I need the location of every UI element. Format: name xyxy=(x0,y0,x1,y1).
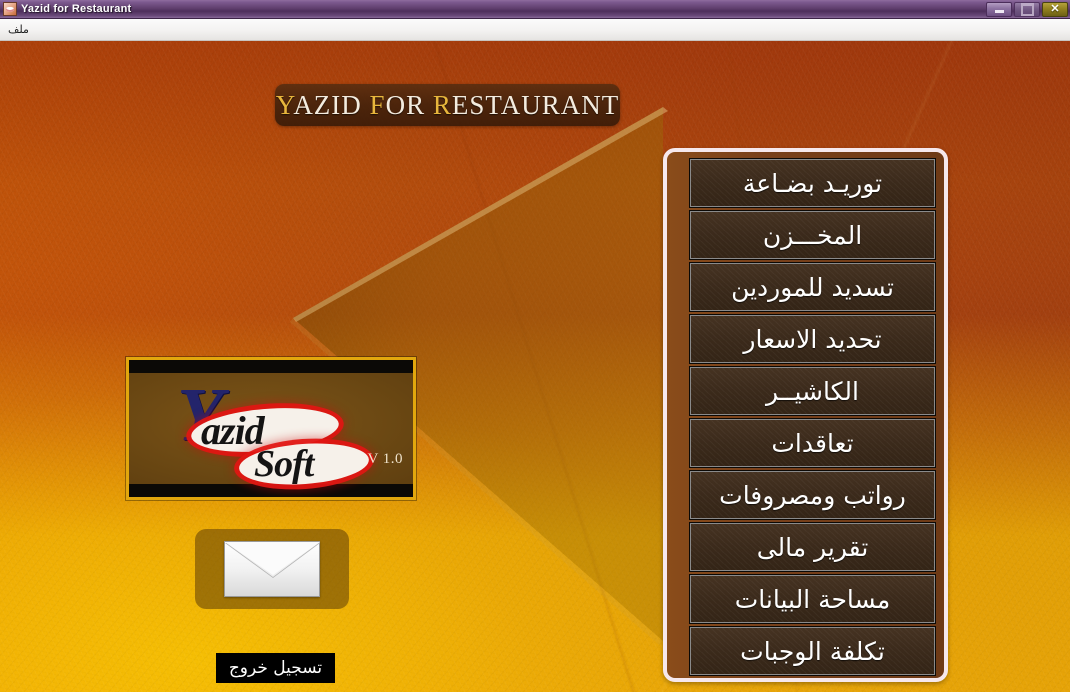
application-window: Yazid for Restaurant ✕ ملف xyxy=(0,0,1070,692)
main-canvas: YAZID FOR RESTAURANT Y azid Soft V 1.0 ت… xyxy=(0,41,1070,692)
menu-item-label: تقرير مالى xyxy=(757,535,869,560)
app-banner: YAZID FOR RESTAURANT xyxy=(275,84,620,126)
menu-item-warehouse[interactable]: المخـــزن xyxy=(689,210,936,260)
logout-button[interactable]: تسجيل خروج xyxy=(216,653,335,683)
mail-button[interactable] xyxy=(195,529,349,609)
logo-artwork: Y azid Soft V 1.0 xyxy=(129,373,413,484)
window-titlebar: Yazid for Restaurant ✕ xyxy=(0,0,1070,19)
banner-text: YAZID FOR RESTAURANT xyxy=(276,90,619,121)
menu-item-label: تعاقدات xyxy=(771,431,853,456)
logo-word-soft: Soft xyxy=(254,445,313,483)
version-label: V 1.0 xyxy=(367,451,403,468)
banner-part: ESTAURANT xyxy=(452,90,619,120)
logout-button-label: تسجيل خروج xyxy=(229,658,322,678)
logo-panel: Y azid Soft V 1.0 xyxy=(126,357,416,500)
menu-item-label: المخـــزن xyxy=(763,223,862,248)
menu-item-label: الكاشيــر xyxy=(766,379,859,404)
menu-item-data-space[interactable]: مساحة البيانات xyxy=(689,574,936,624)
menu-item-meals-cost[interactable]: تكلفة الوجبات xyxy=(689,626,936,676)
menu-item-label: تكلفة الوجبات xyxy=(740,639,885,664)
menu-item-financial-report[interactable]: تقرير مالى xyxy=(689,522,936,572)
menu-item-pay-suppliers[interactable]: تسديد للموردين xyxy=(689,262,936,312)
menu-bar: ملف xyxy=(0,19,1070,41)
menu-bar-item-file[interactable]: ملف xyxy=(0,21,37,38)
menu-item-label: رواتب ومصروفات xyxy=(719,483,906,508)
window-title: Yazid for Restaurant xyxy=(21,3,131,15)
close-button[interactable]: ✕ xyxy=(1042,2,1068,17)
main-menu-panel: توريـد بضـاعة المخـــزن تسديد للموردين ت… xyxy=(663,148,948,682)
menu-item-cashier[interactable]: الكاشيــر xyxy=(689,366,936,416)
menu-item-set-prices[interactable]: تحديد الاسعار xyxy=(689,314,936,364)
menu-item-supply-goods[interactable]: توريـد بضـاعة xyxy=(689,158,936,208)
menu-item-label: تسديد للموردين xyxy=(731,275,894,300)
app-icon xyxy=(3,2,17,16)
menu-item-label: توريـد بضـاعة xyxy=(743,171,882,196)
banner-part: AZID xyxy=(293,90,369,120)
menu-item-label: مساحة البيانات xyxy=(735,587,891,612)
minimize-button[interactable] xyxy=(986,2,1012,17)
menu-item-contracts[interactable]: تعاقدات xyxy=(689,418,936,468)
window-controls: ✕ xyxy=(986,2,1068,17)
banner-part: F xyxy=(370,90,386,120)
menu-item-label: تحديد الاسعار xyxy=(743,327,881,352)
maximize-button[interactable] xyxy=(1014,2,1040,17)
menu-item-salaries-expenses[interactable]: رواتب ومصروفات xyxy=(689,470,936,520)
banner-part: R xyxy=(433,90,452,120)
envelope-icon xyxy=(224,541,320,597)
banner-part: OR xyxy=(386,90,433,120)
banner-part: Y xyxy=(276,90,294,120)
